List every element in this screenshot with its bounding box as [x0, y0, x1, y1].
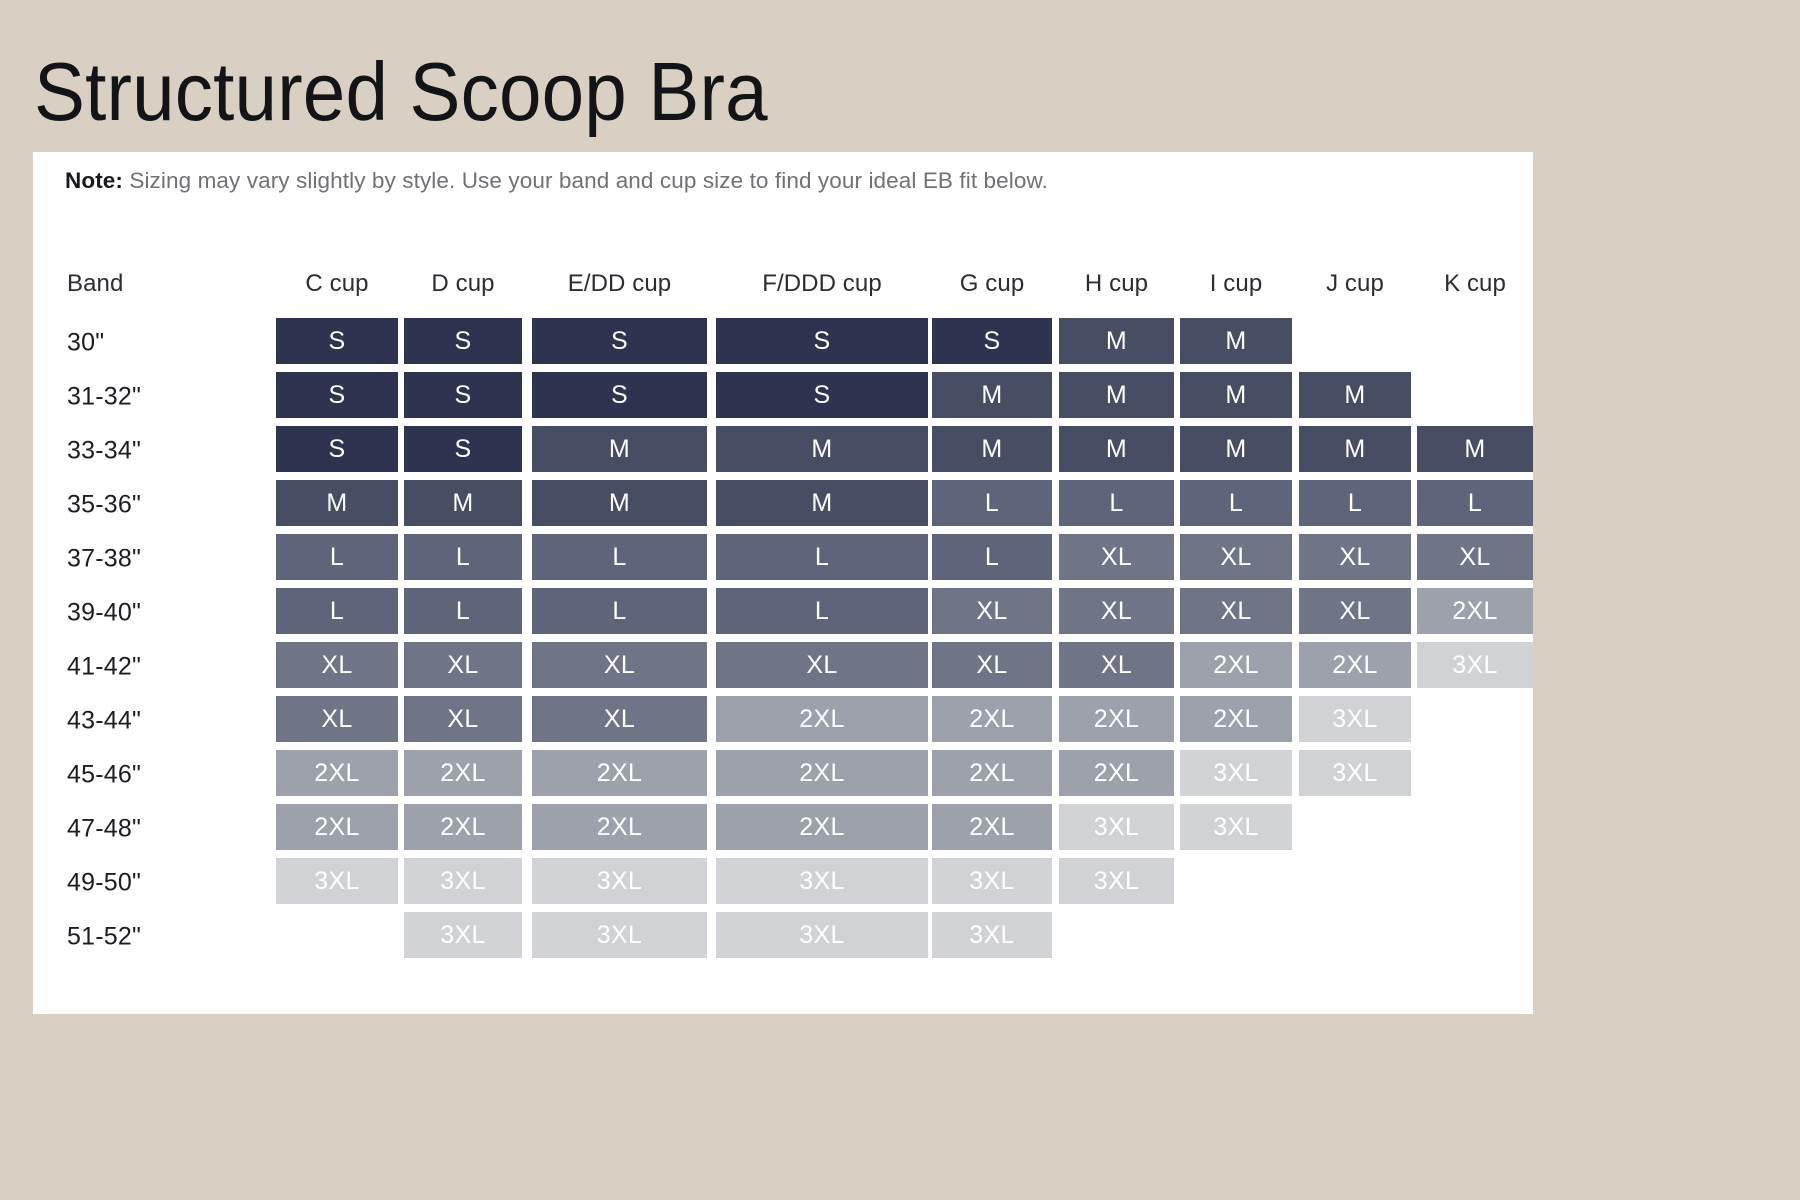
size-cell[interactable]: L	[932, 480, 1052, 526]
size-cell[interactable]: XL	[1059, 588, 1174, 634]
size-cell[interactable]: M	[1299, 372, 1411, 418]
size-cell[interactable]: M	[716, 480, 928, 526]
size-cell[interactable]: 2XL	[1299, 642, 1411, 688]
size-cell[interactable]: 3XL	[1299, 750, 1411, 796]
size-cell-empty	[1417, 912, 1533, 958]
table-row: 45-46"2XL2XL2XL2XL2XL2XL3XL3XL	[33, 748, 1533, 802]
size-cell[interactable]: XL	[532, 696, 707, 742]
size-cell[interactable]: 2XL	[932, 804, 1052, 850]
size-cell[interactable]: XL	[716, 642, 928, 688]
size-cell[interactable]: M	[932, 372, 1052, 418]
table-row: 39-40"LLLLXLXLXLXL2XL	[33, 586, 1533, 640]
note-label: Note:	[65, 168, 123, 193]
size-cell[interactable]: L	[404, 588, 522, 634]
size-cell[interactable]: 2XL	[1059, 750, 1174, 796]
size-cell[interactable]: XL	[276, 696, 398, 742]
size-cell[interactable]: 2XL	[1180, 696, 1292, 742]
band-label: 39-40"	[67, 599, 141, 628]
table-row: 47-48"2XL2XL2XL2XL2XL3XL3XL	[33, 802, 1533, 856]
size-cell[interactable]: M	[1180, 426, 1292, 472]
band-label: 35-36"	[67, 491, 141, 520]
note-text: Note: Sizing may vary slightly by style.…	[65, 168, 1048, 194]
size-cell-empty	[1417, 696, 1533, 742]
size-cell[interactable]: 3XL	[404, 858, 522, 904]
size-cell-empty	[1299, 912, 1411, 958]
size-cell[interactable]: 3XL	[1059, 858, 1174, 904]
band-label: 45-46"	[67, 761, 141, 790]
size-cell[interactable]: M	[1059, 318, 1174, 364]
size-cell[interactable]: 3XL	[1299, 696, 1411, 742]
column-header-j-cup: J cup	[1299, 270, 1411, 298]
size-cell[interactable]: XL	[1417, 534, 1533, 580]
size-cell[interactable]: L	[532, 534, 707, 580]
size-cell-empty	[1299, 318, 1411, 364]
size-cell[interactable]: XL	[1059, 642, 1174, 688]
size-cell[interactable]: XL	[276, 642, 398, 688]
size-cell[interactable]: XL	[532, 642, 707, 688]
size-cell-empty	[1417, 750, 1533, 796]
column-header-c-cup: C cup	[276, 270, 398, 298]
table-row: 31-32"SSSSMMMM	[33, 370, 1533, 424]
size-cell[interactable]: 2XL	[1417, 588, 1533, 634]
size-cell[interactable]: XL	[1299, 588, 1411, 634]
size-cell[interactable]: S	[716, 318, 928, 364]
table-row: 30"SSSSSMM	[33, 316, 1533, 370]
size-cell[interactable]: XL	[932, 588, 1052, 634]
size-cell[interactable]: L	[404, 534, 522, 580]
size-cell[interactable]: XL	[1299, 534, 1411, 580]
band-label: 49-50"	[67, 869, 141, 898]
size-cell[interactable]: L	[1417, 480, 1533, 526]
size-cell[interactable]: 2XL	[1180, 642, 1292, 688]
size-cell-empty	[1417, 318, 1533, 364]
size-cell[interactable]: 2XL	[404, 804, 522, 850]
size-cell[interactable]: 3XL	[404, 912, 522, 958]
size-chart-page: Structured Scoop Bra Note: Sizing may va…	[0, 0, 1800, 1200]
size-cell[interactable]: S	[276, 426, 398, 472]
size-cell[interactable]: M	[1299, 426, 1411, 472]
size-cell[interactable]: M	[532, 480, 707, 526]
size-cell[interactable]: 2XL	[276, 804, 398, 850]
size-cell[interactable]: 2XL	[276, 750, 398, 796]
size-cell[interactable]: XL	[404, 696, 522, 742]
size-cell[interactable]: M	[932, 426, 1052, 472]
band-label: 37-38"	[67, 545, 141, 574]
size-cell-empty	[1417, 858, 1533, 904]
size-cell[interactable]: 3XL	[1059, 804, 1174, 850]
table-row: 33-34"SSMMMMMMM	[33, 424, 1533, 478]
size-cell-empty	[276, 912, 398, 958]
size-cell[interactable]: 2XL	[532, 750, 707, 796]
column-header-i-cup: I cup	[1180, 270, 1292, 298]
size-cell[interactable]: L	[716, 588, 928, 634]
size-cell[interactable]: M	[716, 426, 928, 472]
size-cell[interactable]: XL	[932, 642, 1052, 688]
size-cell[interactable]: L	[1059, 480, 1174, 526]
band-label: 31-32"	[67, 383, 141, 412]
size-cell[interactable]: M	[1417, 426, 1533, 472]
size-cell-empty	[1180, 912, 1292, 958]
size-cell[interactable]: XL	[404, 642, 522, 688]
size-cell-empty	[1299, 804, 1411, 850]
size-cell[interactable]: XL	[1180, 534, 1292, 580]
size-cell[interactable]: M	[404, 480, 522, 526]
size-cell[interactable]: 3XL	[1180, 804, 1292, 850]
size-cell[interactable]: L	[276, 534, 398, 580]
size-grid: BandC cupD cupE/DD cupF/DDD cupG cupH cu…	[33, 270, 1533, 964]
size-cell[interactable]: XL	[1180, 588, 1292, 634]
size-cell[interactable]: 2XL	[716, 804, 928, 850]
size-cell[interactable]: 2XL	[404, 750, 522, 796]
size-cell[interactable]: S	[716, 372, 928, 418]
size-cell-empty	[1180, 858, 1292, 904]
size-cell-empty	[1299, 858, 1411, 904]
size-cell[interactable]: S	[932, 318, 1052, 364]
size-cell-empty	[1417, 372, 1533, 418]
size-cell[interactable]: S	[276, 318, 398, 364]
size-cell[interactable]: S	[404, 372, 522, 418]
size-cell[interactable]: 2XL	[716, 750, 928, 796]
size-chart-card: Note: Sizing may vary slightly by style.…	[33, 152, 1533, 1014]
size-cell[interactable]: L	[276, 588, 398, 634]
column-header-e-dd-cup: E/DD cup	[532, 270, 707, 298]
size-cell[interactable]: S	[404, 426, 522, 472]
size-cell[interactable]: L	[932, 534, 1052, 580]
size-cell[interactable]: 3XL	[716, 912, 928, 958]
size-cell[interactable]: L	[1299, 480, 1411, 526]
size-cell[interactable]: 3XL	[1417, 642, 1533, 688]
size-cell[interactable]: L	[1180, 480, 1292, 526]
size-cell-empty	[1059, 912, 1174, 958]
size-cell[interactable]: S	[276, 372, 398, 418]
size-cell[interactable]: L	[532, 588, 707, 634]
band-label: 51-52"	[67, 923, 141, 952]
page-title: Structured Scoop Bra	[34, 50, 768, 133]
band-label: 43-44"	[67, 707, 141, 736]
column-header-h-cup: H cup	[1059, 270, 1174, 298]
size-cell-empty	[1417, 804, 1533, 850]
size-cell[interactable]: XL	[1059, 534, 1174, 580]
size-cell[interactable]: 2XL	[716, 696, 928, 742]
size-cell[interactable]: M	[1059, 426, 1174, 472]
size-cell[interactable]: S	[532, 318, 707, 364]
size-cell[interactable]: 3XL	[932, 858, 1052, 904]
size-cell[interactable]: 3XL	[532, 858, 707, 904]
table-row: 35-36"MMMMLLLLL	[33, 478, 1533, 532]
size-cell[interactable]: 2XL	[932, 750, 1052, 796]
band-label: 33-34"	[67, 437, 141, 466]
size-cell[interactable]: 3XL	[276, 858, 398, 904]
size-cell[interactable]: S	[404, 318, 522, 364]
size-cell[interactable]: 3XL	[1180, 750, 1292, 796]
band-label: 30"	[67, 329, 104, 358]
size-cell[interactable]: M	[276, 480, 398, 526]
size-cell[interactable]: 2XL	[532, 804, 707, 850]
size-cell[interactable]: 2XL	[1059, 696, 1174, 742]
size-cell[interactable]: L	[716, 534, 928, 580]
table-row: 43-44"XLXLXL2XL2XL2XL2XL3XL	[33, 694, 1533, 748]
size-cell[interactable]: M	[1180, 372, 1292, 418]
size-cell[interactable]: 2XL	[932, 696, 1052, 742]
grid-header-row: BandC cupD cupE/DD cupF/DDD cupG cupH cu…	[33, 270, 1533, 316]
column-header-d-cup: D cup	[404, 270, 522, 298]
note-body: Sizing may vary slightly by style. Use y…	[123, 168, 1048, 193]
size-cell[interactable]: 3XL	[532, 912, 707, 958]
size-cell[interactable]: M	[1180, 318, 1292, 364]
size-cell[interactable]: S	[532, 372, 707, 418]
band-label: 41-42"	[67, 653, 141, 682]
table-row: 51-52"3XL3XL3XL3XL	[33, 910, 1533, 964]
table-row: 49-50"3XL3XL3XL3XL3XL3XL	[33, 856, 1533, 910]
size-cell[interactable]: M	[1059, 372, 1174, 418]
size-cell[interactable]: 3XL	[932, 912, 1052, 958]
column-header-g-cup: G cup	[932, 270, 1052, 298]
column-header-k-cup: K cup	[1417, 270, 1533, 298]
table-row: 37-38"LLLLLXLXLXLXL	[33, 532, 1533, 586]
size-cell[interactable]: 3XL	[716, 858, 928, 904]
band-label: 47-48"	[67, 815, 141, 844]
size-cell[interactable]: M	[532, 426, 707, 472]
table-row: 41-42"XLXLXLXLXLXL2XL2XL3XL	[33, 640, 1533, 694]
column-header-f-ddd-cup: F/DDD cup	[716, 270, 928, 298]
column-header-band: Band	[67, 270, 123, 298]
